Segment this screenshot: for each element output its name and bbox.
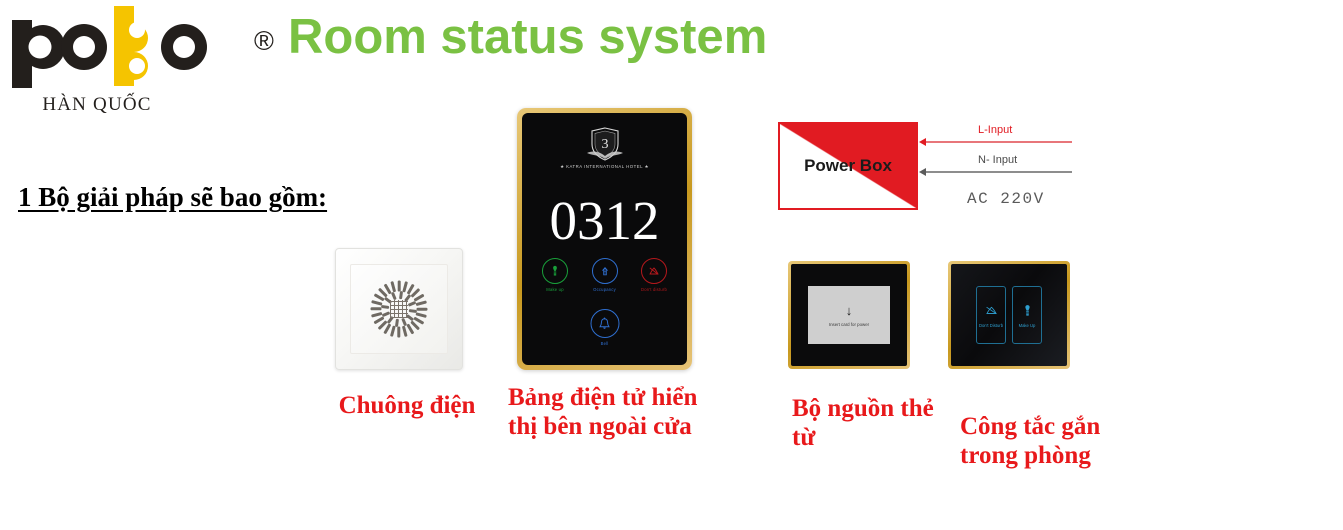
hotel-crest-icon: 3	[584, 126, 626, 162]
caption-doorbell: Chuông điện	[312, 391, 502, 420]
status-button-bell[interactable]: Bell	[590, 309, 619, 346]
display-panel-screen: 3 ★ KATRA INTERNATIONAL HOTEL ★ 0312	[522, 113, 687, 365]
caption-card-power-module: Bộ nguồn thẻ từ	[792, 394, 952, 452]
switch-key-label-make-up: Make Up	[1019, 323, 1036, 328]
status-button-do-not-disturb[interactable]: Don't disturb	[630, 258, 678, 292]
page-title: Room status system	[288, 8, 767, 66]
svg-text:3: 3	[601, 137, 608, 152]
bell-icon	[590, 309, 619, 338]
product-doorbell	[335, 248, 463, 370]
do-not-disturb-icon	[641, 258, 667, 284]
hotel-crest-name: ★ KATRA INTERNATIONAL HOTEL ★	[522, 164, 687, 170]
slide-canvas: ® HÀN QUỐC Room status system 1 Bộ giải …	[0, 0, 1343, 530]
wire-line-n-input	[926, 171, 1072, 173]
arrow-left-icon-l-input	[919, 138, 926, 146]
status-label-do-not-disturb: Don't disturb	[641, 287, 667, 292]
do-not-disturb-icon	[984, 303, 999, 318]
card-insert-slot[interactable]: ↓ Insert card for power	[808, 286, 890, 344]
switch-key-label-do-not-disturb: Don't Disturb	[979, 323, 1003, 328]
card-slot-label: Insert card for power	[829, 322, 869, 327]
make-up-room-icon	[542, 258, 568, 284]
status-indicator-row: Make up Occupancy	[531, 258, 678, 292]
product-display-panel: 3 ★ KATRA INTERNATIONAL HOTEL ★ 0312	[517, 108, 692, 370]
switch-key-do-not-disturb[interactable]: Don't Disturb	[976, 286, 1006, 344]
wire-line-l-input	[926, 141, 1072, 143]
card-module-face: ↓ Insert card for power	[791, 264, 907, 366]
switch-key-make-up[interactable]: Make Up	[1012, 286, 1042, 344]
power-box-label: Power Box	[780, 156, 916, 176]
section-heading: 1 Bộ giải pháp sẽ bao gồm:	[18, 182, 327, 213]
status-label-bell: Bell	[601, 341, 609, 346]
brand-logo: ® HÀN QUỐC	[6, 4, 296, 122]
make-up-room-icon	[1020, 303, 1035, 318]
room-number: 0312	[522, 193, 687, 248]
doorbell-speaker-grille-icon	[366, 276, 432, 342]
doorbell-center-mesh-icon	[390, 300, 408, 318]
caption-display-panel: Bảng điện tử hiển thị bên ngoài cửa	[508, 383, 708, 441]
doorbell-faceplate	[350, 264, 448, 354]
status-button-make-up[interactable]: Make up	[531, 258, 579, 292]
pobo-wordmark-icon	[6, 4, 296, 92]
product-card-power-module: ↓ Insert card for power	[788, 261, 910, 369]
occupancy-icon	[592, 258, 618, 284]
registered-trademark-icon: ®	[254, 26, 274, 57]
arrow-left-icon-n-input	[919, 168, 926, 176]
status-button-occupancy[interactable]: Occupancy	[581, 258, 629, 292]
brand-subtitle: HÀN QUỐC	[22, 94, 172, 116]
power-box-body: Power Box	[778, 122, 918, 210]
wire-label-l-input: L-Input	[978, 124, 1012, 136]
status-label-occupancy: Occupancy	[593, 287, 616, 292]
power-box-diagram: Power Box L-Input N- Input AC 220V	[778, 112, 1078, 216]
product-in-room-switch: Don't Disturb Make Up	[948, 261, 1070, 369]
wire-label-n-input: N- Input	[978, 154, 1017, 166]
arrow-down-icon: ↓	[846, 304, 853, 317]
voltage-label: AC 220V	[967, 190, 1045, 208]
caption-in-room-switch: Công tắc gắn trong phòng	[960, 412, 1140, 470]
switch-face: Don't Disturb Make Up	[951, 264, 1067, 366]
doorbell-body	[335, 248, 463, 370]
status-label-make-up: Make up	[546, 287, 563, 292]
